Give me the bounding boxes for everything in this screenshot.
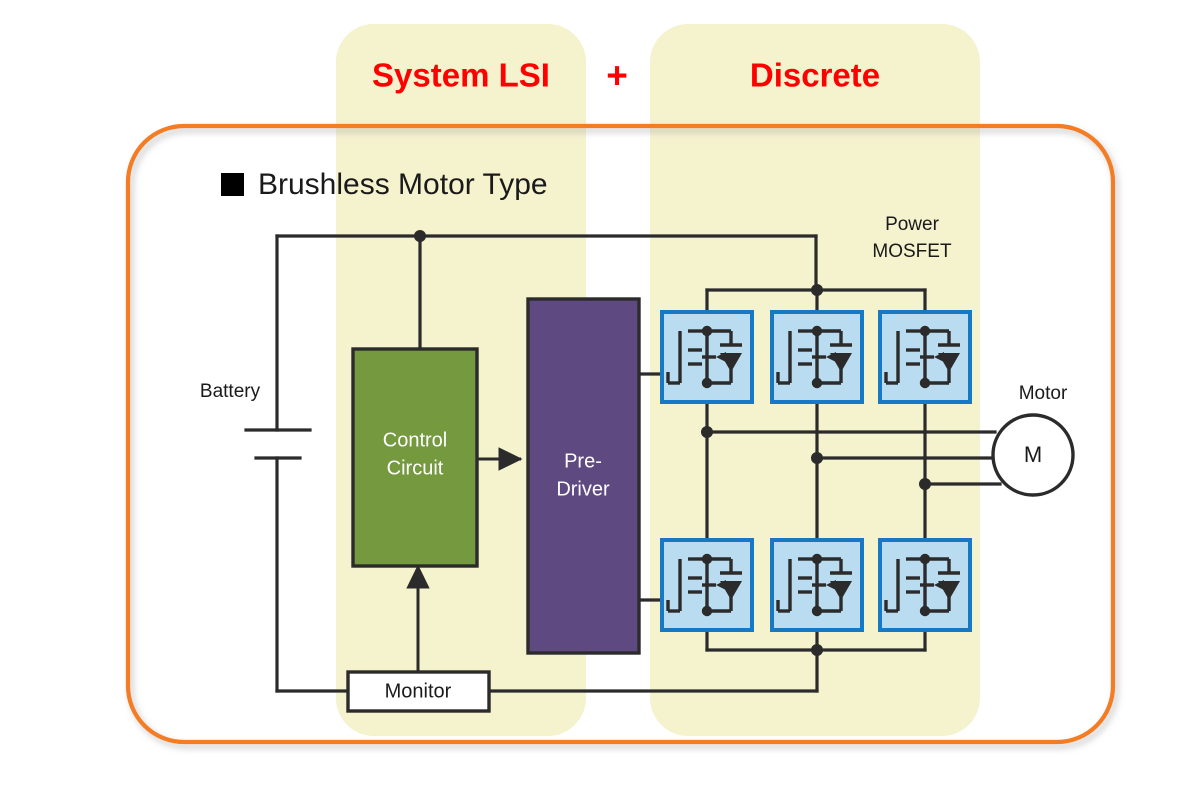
mosfet-w-high[interactable] bbox=[880, 312, 970, 402]
motor-symbol-letter: M bbox=[1024, 442, 1042, 467]
page-title: Brushless Motor Type bbox=[258, 168, 548, 201]
diagram-canvas: System LSI + Discrete Brushless Motor Ty… bbox=[0, 0, 1200, 792]
control-circuit-label-line2: Circuit bbox=[387, 457, 444, 479]
junction-dot bbox=[812, 326, 822, 336]
power-mosfet-label-line1: Power bbox=[885, 214, 940, 235]
junction-dot bbox=[812, 378, 822, 388]
band-label-discrete: Discrete bbox=[750, 57, 880, 94]
band-label-plus: + bbox=[606, 55, 628, 96]
junction-dot bbox=[920, 378, 930, 388]
mosfet-v-high[interactable] bbox=[772, 312, 862, 402]
junction-dot bbox=[702, 606, 712, 616]
junction-dot bbox=[702, 378, 712, 388]
junction-dot bbox=[920, 554, 930, 564]
junction-dot-top-bus bbox=[811, 284, 823, 296]
junction-dot bbox=[812, 554, 822, 564]
mosfet-v-low[interactable] bbox=[772, 540, 862, 630]
junction-dot-phase-v bbox=[811, 452, 823, 464]
junction-dot-vdd-tap bbox=[414, 230, 426, 242]
control-circuit-label-line1: Control bbox=[383, 429, 447, 451]
junction-dot-bottom-bus bbox=[811, 644, 823, 656]
motor-label: Motor bbox=[1019, 383, 1068, 404]
pre-driver-block[interactable] bbox=[528, 299, 639, 653]
mosfet-u-high[interactable] bbox=[662, 312, 752, 402]
mosfet-w-low[interactable] bbox=[880, 540, 970, 630]
square-bullet-icon bbox=[221, 173, 244, 196]
junction-dot bbox=[702, 554, 712, 564]
junction-dot bbox=[812, 606, 822, 616]
junction-dot-phase-w bbox=[919, 478, 931, 490]
junction-dot-phase-u bbox=[701, 426, 713, 438]
junction-dot bbox=[920, 326, 930, 336]
mosfet-u-low[interactable] bbox=[662, 540, 752, 630]
junction-dot bbox=[920, 606, 930, 616]
monitor-label: Monitor bbox=[385, 680, 452, 702]
pre-driver-label-line1: Pre- bbox=[564, 450, 602, 472]
band-label-system-lsi: System LSI bbox=[372, 57, 550, 94]
band-right-bottom bbox=[650, 698, 980, 736]
power-mosfet-label-line2: MOSFET bbox=[872, 241, 952, 262]
junction-dot bbox=[702, 326, 712, 336]
brushless-motor-diagram: System LSI + Discrete Brushless Motor Ty… bbox=[0, 0, 1200, 792]
battery-label: Battery bbox=[200, 381, 261, 402]
pre-driver-label-line2: Driver bbox=[556, 478, 610, 500]
